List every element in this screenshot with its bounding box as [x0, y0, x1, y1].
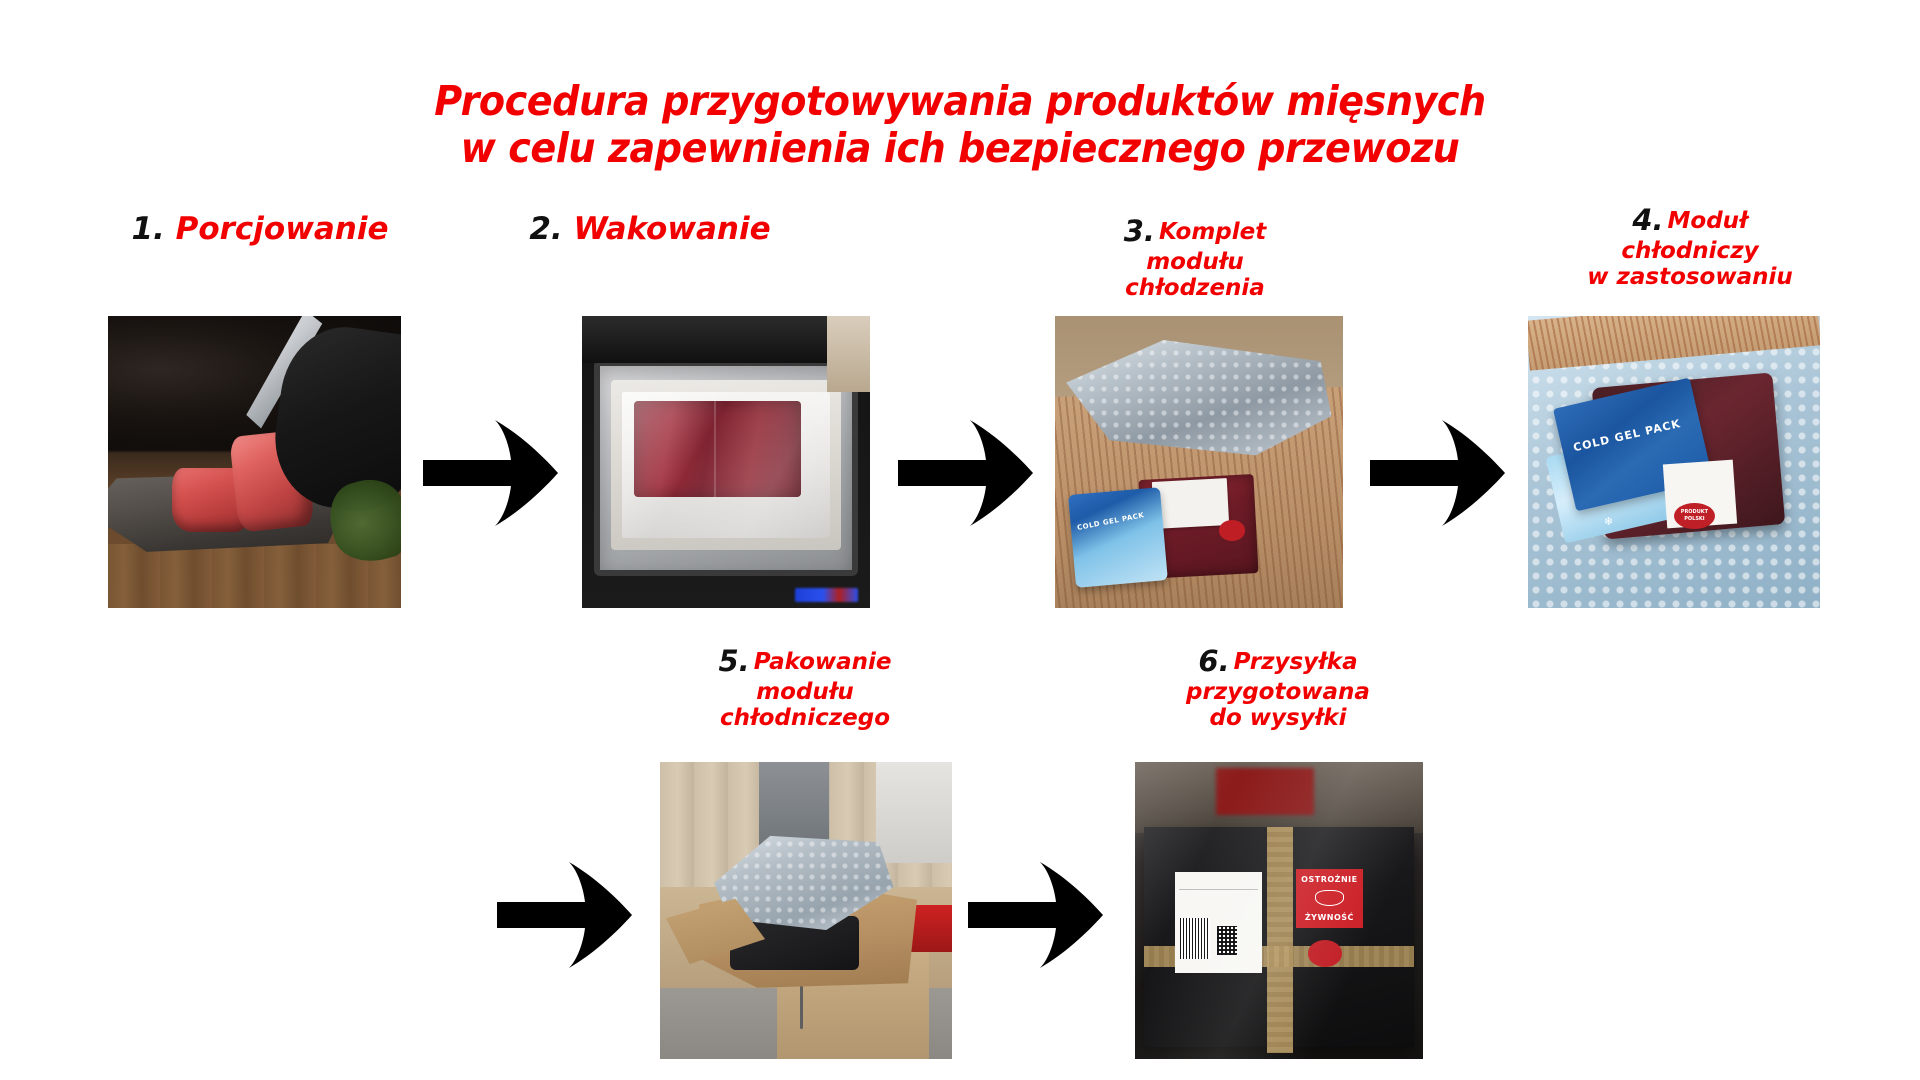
step-5-photo — [660, 762, 952, 1059]
step-2-caption: 2. Wakowanie — [500, 212, 800, 248]
step-3-label-3: chłodzenia — [1045, 275, 1345, 302]
step-5-caption: 5.Pakowanie modułu chłodniczego — [655, 645, 955, 732]
arrow-right-icon-3 — [1370, 420, 1505, 526]
arrow-right-icon-5 — [968, 862, 1103, 968]
photo-3-product-label — [1152, 478, 1229, 529]
step-3-photo: COLD GEL PACK — [1055, 316, 1343, 608]
step-6-label-2: przygotowana — [1128, 679, 1428, 706]
photo-2-control-leds — [795, 588, 858, 603]
step-5-label-3: chłodniczego — [655, 705, 955, 732]
step-3-caption: 3.Komplet modułu chłodzenia — [1045, 215, 1345, 302]
step-3-number: 3. — [1124, 214, 1155, 248]
photo-2-plastic-sheen — [622, 392, 829, 538]
step-4-number: 4. — [1632, 203, 1663, 237]
photo-4-produkt-polski-text: PRODUKT POLSKI — [1674, 509, 1715, 524]
step-3-label-1: Komplet — [1159, 219, 1266, 245]
step-3-label-2: modułu — [1045, 249, 1345, 276]
photo-5-red-object — [911, 905, 952, 953]
photo-4-produkt-polski-seal: PRODUKT POLSKI — [1674, 503, 1715, 529]
step-4-caption: 4.Moduł chłodniczy w zastosowaniu — [1530, 204, 1850, 291]
infographic-canvas: Procedura przygotowywania produktów mięs… — [0, 0, 1920, 1080]
page-title-line-2: w celu zapewnienia ich bezpiecznego prze… — [67, 125, 1853, 172]
photo-3-cold-gel-pack-text: COLD GEL PACK — [1076, 512, 1144, 533]
step-3-line-1: 3.Komplet — [1045, 215, 1345, 249]
step-2-photo — [582, 316, 870, 608]
step-4-label-3: w zastosowaniu — [1530, 264, 1850, 291]
photo-6-plastic-wrap-sheen — [1135, 762, 1423, 1059]
step-4-label-2: chłodniczy — [1530, 238, 1850, 265]
arrow-right-icon-1 — [423, 420, 558, 526]
step-6-number: 6. — [1198, 644, 1229, 678]
step-4-label-1: Moduł — [1668, 208, 1748, 234]
step-1-number: 1. — [131, 211, 164, 247]
step-1-caption: 1. Porcjowanie — [100, 212, 420, 248]
photo-4-snowflake-icon: ❄ — [1604, 515, 1613, 528]
photo-5-wall — [876, 762, 952, 863]
arrow-right-icon-4 — [497, 862, 632, 968]
page-title-line-1: Procedura przygotowywania produktów mięs… — [67, 78, 1853, 125]
step-2-label: Wakowanie — [574, 211, 771, 247]
arrow-right-icon-2 — [898, 420, 1033, 526]
step-4-photo: COLD GEL PACK ❄ PRODUKT POLSKI — [1528, 316, 1820, 608]
step-6-label-1: Przysyłka — [1234, 649, 1358, 675]
photo-4-cold-gel-pack-text: COLD GEL PACK — [1572, 417, 1682, 454]
photo-3-produkt-polski-seal — [1219, 520, 1245, 540]
step-6-line-1: 6.Przysyłka — [1128, 645, 1428, 679]
step-5-label-2: modułu — [655, 679, 955, 706]
step-1-label: Porcjowanie — [176, 211, 389, 247]
step-5-line-1: 5.Pakowanie — [655, 645, 955, 679]
step-6-label-3: do wysyłki — [1128, 705, 1428, 732]
step-5-number: 5. — [718, 644, 749, 678]
photo-3-cold-gel-pack: COLD GEL PACK — [1068, 487, 1168, 588]
step-6-photo: OSTROŻNIE ŻYWNOŚĆ — [1135, 762, 1423, 1059]
step-1-photo — [108, 316, 401, 608]
photo-2-wall — [827, 316, 870, 392]
step-6-caption: 6.Przysyłka przygotowana do wysyłki — [1128, 645, 1428, 732]
page-title: Procedura przygotowywania produktów mięs… — [67, 78, 1853, 172]
step-4-line-1: 4.Moduł — [1530, 204, 1850, 238]
step-5-label-1: Pakowanie — [754, 649, 892, 675]
step-2-number: 2. — [529, 211, 562, 247]
